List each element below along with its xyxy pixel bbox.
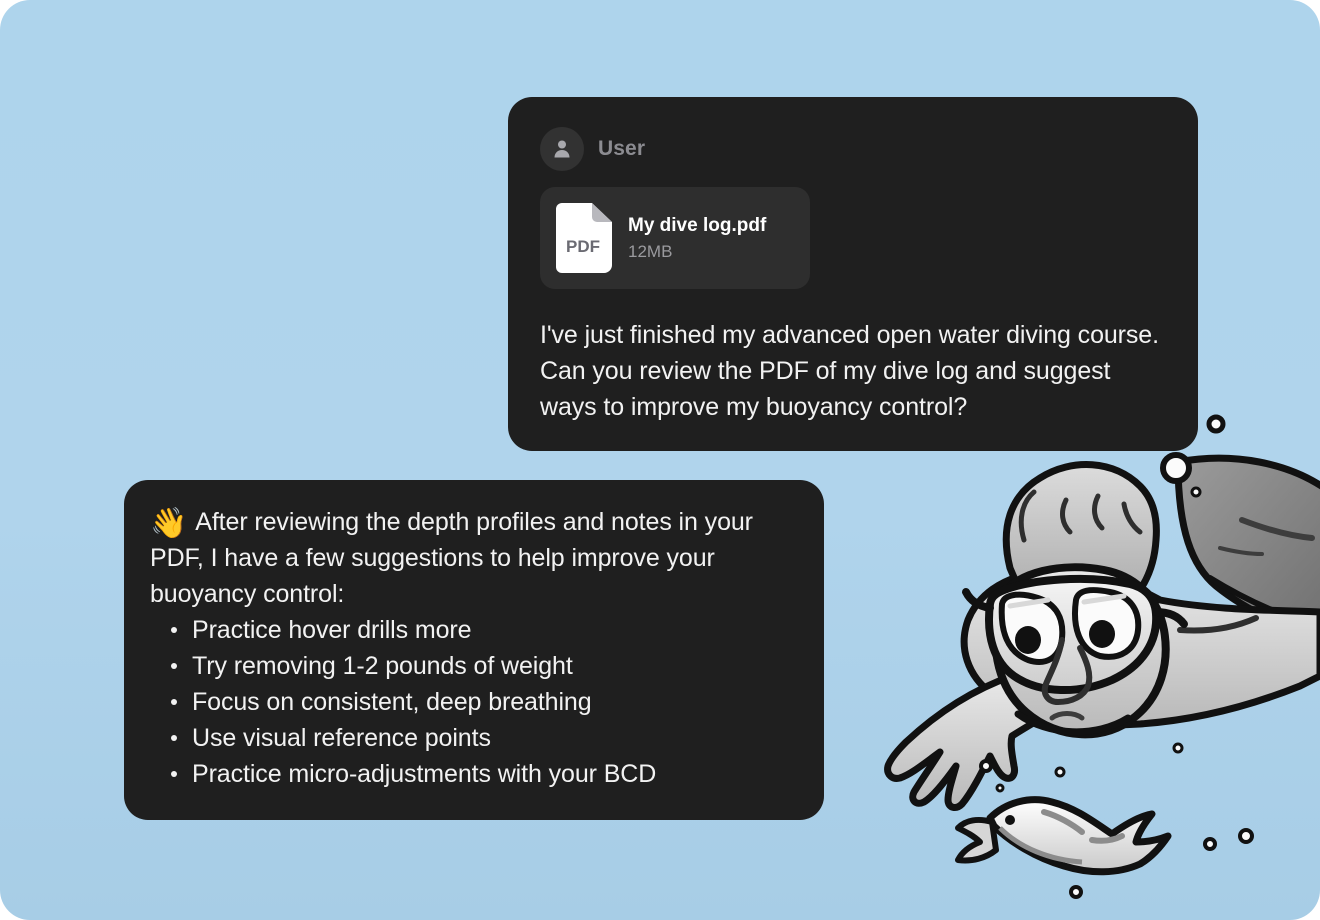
person-icon [550,137,574,161]
list-item: Practice hover drills more [150,612,798,648]
list-item: Focus on consistent, deep breathing [150,684,798,720]
list-item: Use visual reference points [150,720,798,756]
assistant-intro-text: 👋After reviewing the depth profiles and … [150,504,798,612]
pdf-icon-label: PDF [566,237,600,256]
user-message-text: I've just finished my advanced open wate… [540,317,1166,425]
file-size: 12MB [628,242,766,262]
diver-figure [888,458,1320,807]
fish-illustration [958,800,1168,872]
waving-hand-emoji: 👋 [150,507,187,540]
suggestion-list: Practice hover drills more Try removing … [150,612,798,792]
list-item: Practice micro-adjustments with your BCD [150,756,798,792]
list-item: Try removing 1-2 pounds of weight [150,648,798,684]
page-canvas: User PDF My dive log.pdf 12MB I've just … [0,0,1320,920]
file-meta: My dive log.pdf 12MB [628,214,766,263]
file-attachment-card[interactable]: PDF My dive log.pdf 12MB [540,187,810,289]
user-name-label: User [598,137,645,161]
file-name: My dive log.pdf [628,214,766,238]
pdf-file-icon: PDF [556,203,612,273]
user-message-bubble: User PDF My dive log.pdf 12MB I've just … [508,97,1198,451]
air-bubbles [981,395,1252,897]
avatar [540,127,584,171]
user-message-header: User [540,127,1172,171]
assistant-message-bubble: 👋After reviewing the depth profiles and … [124,480,824,820]
assistant-intro-copy: After reviewing the depth profiles and n… [150,508,753,608]
